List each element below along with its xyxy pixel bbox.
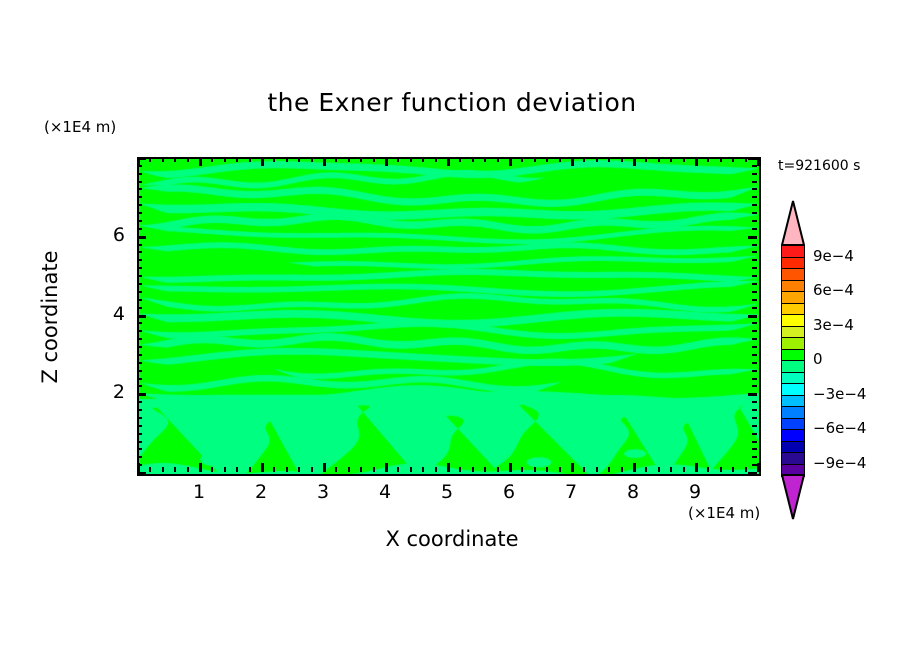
y-axis-tick — [137, 267, 142, 269]
x-axis-tick-top — [559, 157, 561, 162]
y-axis-tick-right — [752, 322, 757, 324]
x-axis-tick — [286, 467, 288, 472]
y-axis-tick — [137, 181, 142, 183]
x-axis-tick — [720, 467, 722, 472]
y-axis-tick — [137, 417, 142, 419]
x-axis-tick-top — [571, 157, 574, 166]
figure-root: the Exner function deviation (×1E4 m) (×… — [0, 0, 904, 654]
x-axis-tick — [459, 467, 461, 472]
x-axis-tick-top — [335, 157, 337, 162]
x-axis-tick — [410, 467, 412, 472]
x-axis-tick-top — [410, 157, 412, 162]
x-axis-tick-top — [435, 157, 437, 162]
y-axis-tick — [137, 338, 142, 340]
x-axis-tick — [323, 463, 326, 472]
y-axis-tick — [137, 204, 142, 206]
x-axis-tick — [608, 467, 610, 472]
y-axis-tick — [137, 244, 142, 246]
colorbar-label-2: 3e−4 — [813, 316, 854, 334]
y-axis-tick-right — [752, 204, 757, 206]
x-axis-tick-top — [187, 157, 189, 162]
y-tick-label-4: 4 — [85, 303, 125, 325]
y-axis-tick — [137, 212, 142, 214]
x-axis-tick — [670, 467, 672, 472]
x-axis-tick-top — [707, 157, 709, 162]
y-axis-tick-right — [752, 244, 757, 246]
x-axis-unit-label: (×1E4 m) — [688, 504, 760, 522]
y-axis-tick — [137, 299, 142, 301]
y-axis-tick — [137, 236, 146, 239]
x-axis-tick-top — [199, 157, 202, 166]
y-axis-tick — [137, 362, 142, 364]
y-axis-tick-right — [752, 441, 757, 443]
x-axis-tick-top — [249, 157, 251, 162]
x-axis-tick-top — [509, 157, 512, 166]
colorbar-label-6: −9e−4 — [813, 454, 866, 472]
x-axis-tick — [633, 463, 636, 472]
y-axis-tick-right — [752, 464, 757, 466]
x-axis-tick — [174, 467, 176, 472]
y-axis-tick — [137, 322, 142, 324]
x-axis-tick — [348, 467, 350, 472]
x-axis-tick-top — [348, 157, 350, 162]
x-axis-tick — [583, 467, 585, 472]
x-axis-tick — [534, 467, 536, 472]
y-axis-tick — [137, 378, 142, 380]
y-axis-tick-right — [752, 362, 757, 364]
x-axis-tick-top — [720, 157, 722, 162]
x-tick-label-1: 1 — [179, 481, 219, 503]
y-axis-tick-right — [752, 220, 757, 222]
x-axis-tick — [559, 467, 561, 472]
x-axis-tick-top — [323, 157, 326, 166]
x-axis-tick-top — [695, 157, 698, 166]
y-axis-tick — [137, 220, 142, 222]
y-axis-tick-right — [752, 378, 757, 380]
x-axis-tick — [187, 467, 189, 472]
x-axis-tick — [373, 467, 375, 472]
x-axis-tick-top — [484, 157, 486, 162]
x-axis-tick-top — [497, 157, 499, 162]
x-axis-tick — [311, 467, 313, 472]
x-axis-tick-top — [360, 157, 362, 162]
y-axis-tick — [137, 385, 142, 387]
y-axis-tick-right — [752, 267, 757, 269]
x-tick-label-5: 5 — [427, 481, 467, 503]
x-axis-tick-top — [373, 157, 375, 162]
contour-plot-area — [137, 157, 761, 476]
x-axis-tick — [249, 467, 251, 472]
chart-title: the Exner function deviation — [0, 88, 904, 117]
colorbar-label-4: −3e−4 — [813, 385, 866, 403]
x-axis-tick — [745, 467, 747, 472]
y-axis-tick — [137, 441, 142, 443]
y-axis-tick-right — [752, 283, 757, 285]
x-axis-title: X coordinate — [0, 527, 904, 551]
x-tick-label-9: 9 — [675, 481, 715, 503]
y-axis-tick — [137, 307, 142, 309]
y-axis-tick — [137, 283, 142, 285]
x-axis-tick — [621, 467, 623, 472]
x-axis-tick — [397, 467, 399, 472]
x-axis-tick-top — [447, 157, 450, 166]
y-axis-tick — [137, 354, 142, 356]
x-axis-tick-top — [534, 157, 536, 162]
y-axis-tick-right — [752, 370, 757, 372]
x-axis-tick-top — [621, 157, 623, 162]
x-axis-tick — [546, 467, 548, 472]
x-axis-tick-top — [683, 157, 685, 162]
y-axis-tick — [137, 472, 146, 475]
y-axis-tick — [137, 456, 142, 458]
y-axis-tick — [137, 251, 142, 253]
x-axis-tick — [497, 467, 499, 472]
y-axis-tick — [137, 315, 146, 318]
x-axis-tick-top — [385, 157, 388, 166]
y-axis-tick — [137, 433, 142, 435]
y-axis-tick-right — [752, 165, 757, 167]
x-axis-tick-top — [422, 157, 424, 162]
x-axis-tick-top — [149, 157, 151, 162]
y-axis-tick-right — [752, 212, 757, 214]
y-axis-tick-right — [748, 393, 757, 396]
x-axis-tick-top — [670, 157, 672, 162]
y-axis-tick-right — [752, 338, 757, 340]
x-axis-tick-top — [286, 157, 288, 162]
y-axis-tick-right — [752, 401, 757, 403]
y-axis-tick-right — [752, 425, 757, 427]
y-axis-tick-right — [752, 354, 757, 356]
x-axis-tick — [149, 467, 151, 472]
x-tick-label-7: 7 — [551, 481, 591, 503]
x-axis-tick — [645, 467, 647, 472]
x-axis-tick-top — [273, 157, 275, 162]
x-tick-label-8: 8 — [613, 481, 653, 503]
x-axis-tick-top — [596, 157, 598, 162]
x-axis-tick — [683, 467, 685, 472]
x-axis-tick — [521, 467, 523, 472]
y-axis-tick-right — [752, 346, 757, 348]
y-axis-tick — [137, 259, 142, 261]
x-axis-tick — [211, 467, 213, 472]
y-axis-tick-right — [752, 433, 757, 435]
x-axis-tick — [335, 467, 337, 472]
x-axis-tick-top — [633, 157, 636, 166]
colorbar — [781, 245, 805, 475]
colorbar-label-3: 0 — [813, 350, 823, 368]
y-axis-tick-right — [752, 196, 757, 198]
x-axis-tick — [447, 463, 450, 472]
y-axis-tick-right — [748, 236, 757, 239]
x-axis-tick-top — [298, 157, 300, 162]
x-axis-tick-top — [472, 157, 474, 162]
x-axis-tick — [224, 467, 226, 472]
x-axis-tick-top — [546, 157, 548, 162]
y-axis-tick-right — [752, 259, 757, 261]
x-axis-tick-top — [732, 157, 734, 162]
time-annotation: t=921600 s — [778, 158, 860, 174]
colorbar-over-arrow — [781, 200, 805, 246]
y-axis-tick — [137, 188, 142, 190]
x-axis-tick — [472, 467, 474, 472]
x-axis-tick-top — [583, 157, 585, 162]
x-axis-tick-top — [645, 157, 647, 162]
y-axis-tick — [137, 157, 146, 160]
colorbar-label-5: −6e−4 — [813, 419, 866, 437]
y-axis-tick-right — [748, 472, 757, 475]
y-axis-tick-right — [752, 173, 757, 175]
y-axis-tick-right — [752, 291, 757, 293]
x-axis-tick — [658, 467, 660, 472]
x-axis-tick-top — [224, 157, 226, 162]
y-axis-tick — [137, 464, 142, 466]
x-axis-tick-top — [658, 157, 660, 162]
y-axis-tick — [137, 409, 142, 411]
x-tick-label-3: 3 — [303, 481, 343, 503]
x-axis-tick — [509, 463, 512, 472]
x-axis-tick-top — [311, 157, 313, 162]
x-axis-tick — [236, 467, 238, 472]
y-tick-label-2: 2 — [85, 381, 125, 403]
x-axis-tick — [360, 467, 362, 472]
y-axis-tick-right — [748, 157, 757, 160]
y-axis-tick — [137, 228, 142, 230]
x-axis-tick — [732, 467, 734, 472]
x-tick-label-6: 6 — [489, 481, 529, 503]
x-axis-tick — [273, 467, 275, 472]
y-axis-tick-right — [752, 456, 757, 458]
y-axis-tick — [137, 401, 142, 403]
x-axis-tick-top — [397, 157, 399, 162]
x-axis-tick-top — [261, 157, 264, 166]
x-tick-label-2: 2 — [241, 481, 281, 503]
colorbar-label-1: 6e−4 — [813, 281, 854, 299]
y-axis-tick — [137, 196, 142, 198]
colorbar-label-0: 9e−4 — [813, 247, 854, 265]
x-axis-tick — [298, 467, 300, 472]
y-axis-tick — [137, 425, 142, 427]
y-axis-tick — [137, 370, 142, 372]
y-axis-tick-right — [752, 251, 757, 253]
y-axis-unit-label: (×1E4 m) — [44, 118, 116, 136]
y-axis-tick — [137, 173, 142, 175]
x-axis-tick-top — [608, 157, 610, 162]
x-axis-tick-top — [211, 157, 213, 162]
y-axis-tick — [137, 330, 142, 332]
x-axis-tick — [757, 463, 760, 472]
y-axis-tick-right — [752, 448, 757, 450]
y-axis-tick-right — [752, 275, 757, 277]
x-axis-tick — [484, 467, 486, 472]
x-axis-tick-top — [174, 157, 176, 162]
x-axis-tick-top — [745, 157, 747, 162]
x-axis-tick — [162, 467, 164, 472]
y-axis-tick-right — [752, 330, 757, 332]
y-axis-tick — [137, 393, 146, 396]
y-axis-tick-right — [752, 181, 757, 183]
x-axis-tick — [435, 467, 437, 472]
x-axis-tick-top — [236, 157, 238, 162]
y-axis-tick — [137, 275, 142, 277]
y-axis-tick-right — [752, 385, 757, 387]
y-axis-tick-right — [752, 307, 757, 309]
y-axis-tick-right — [752, 228, 757, 230]
contour-field-canvas — [139, 159, 759, 474]
y-axis-tick — [137, 346, 142, 348]
x-axis-tick — [385, 463, 388, 472]
x-axis-tick — [596, 467, 598, 472]
y-axis-tick-right — [752, 417, 757, 419]
y-tick-label-6: 6 — [85, 224, 125, 246]
x-axis-tick — [422, 467, 424, 472]
y-axis-tick — [137, 165, 142, 167]
x-axis-tick — [695, 463, 698, 472]
y-axis-tick-right — [752, 299, 757, 301]
x-axis-tick — [707, 467, 709, 472]
y-axis-tick — [137, 448, 142, 450]
y-axis-tick-right — [752, 188, 757, 190]
y-axis-tick — [137, 291, 142, 293]
x-axis-tick-top — [757, 157, 760, 166]
x-axis-tick — [571, 463, 574, 472]
colorbar-under-arrow — [781, 474, 805, 520]
x-axis-tick-top — [521, 157, 523, 162]
x-axis-tick-top — [162, 157, 164, 162]
y-axis-title: Z coordinate — [38, 207, 62, 427]
x-axis-tick-top — [459, 157, 461, 162]
y-axis-tick-right — [748, 315, 757, 318]
x-tick-label-4: 4 — [365, 481, 405, 503]
y-axis-tick-right — [752, 409, 757, 411]
x-axis-tick — [261, 463, 264, 472]
x-axis-tick — [199, 463, 202, 472]
